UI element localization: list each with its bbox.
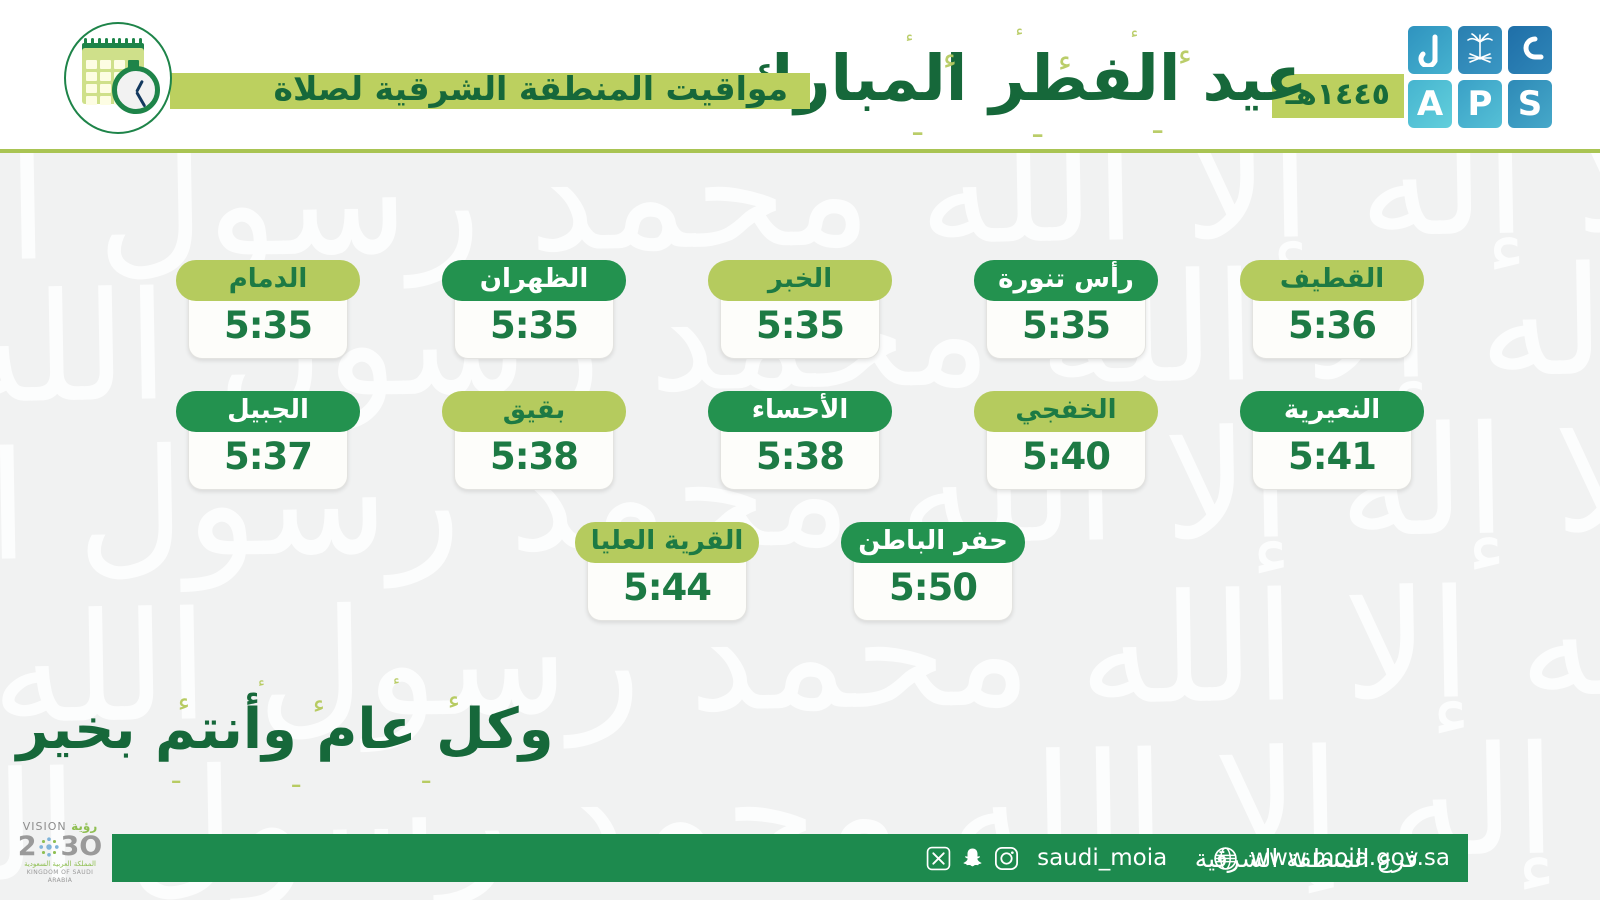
spa-logo-cell-s: S [1508, 80, 1552, 128]
spa-logo-cell-a: A [1408, 80, 1452, 128]
prayer-time: 5:35 [1022, 307, 1110, 344]
city-name-label: القطيف [1240, 260, 1424, 301]
city-name-label: القرية العليا [575, 522, 759, 563]
city-time-box: 5:44 [587, 555, 747, 621]
city-time-box: 5:36 [1252, 293, 1412, 359]
social-handle[interactable]: saudi_moia [1037, 847, 1167, 870]
x-twitter-icon[interactable] [926, 846, 951, 871]
prayer-row-1: القطيف 5:36 رأس تنورة 5:35 الخبر 5:35 ال… [0, 260, 1600, 359]
city-time-box: 5:35 [454, 293, 614, 359]
prayer-time: 5:36 [1288, 307, 1376, 344]
city-name-label: الجبيل [176, 391, 360, 432]
page-footer: VISION رؤية 2 3O المملكة العربية السعودي… [0, 800, 1600, 900]
vision-2030-logo: VISION رؤية 2 3O المملكة العربية السعودي… [14, 820, 106, 882]
spa-letter-waw-glyph [1515, 33, 1545, 67]
spa-letter-alef-glyph [1417, 33, 1443, 67]
spa-logo-cell-alef [1408, 26, 1452, 74]
city-name-label: بقيق [442, 391, 626, 432]
spa-logo-cell-p: P [1458, 80, 1502, 128]
prayer-time: 5:35 [224, 307, 312, 344]
city-name-label: الخفجي [974, 391, 1158, 432]
city-card-dhahran[interactable]: الظهران 5:35 [442, 260, 626, 359]
prayer-row-3: حفر الباطن 5:50 القرية العليا 5:44 [0, 522, 1600, 621]
city-name-label: الظهران [442, 260, 626, 301]
spa-logo: S P A [1412, 26, 1552, 134]
calendar-clock-icon [64, 22, 172, 134]
prayer-time: 5:37 [224, 438, 312, 475]
city-name-label: النعيرية [1240, 391, 1424, 432]
greeting-text: وكل عام وأنتم بخير [16, 702, 553, 758]
branch-label: فرع المنطقة الشرقية [1195, 834, 1418, 882]
clock-minute-hand [135, 91, 146, 107]
city-time-box: 5:35 [986, 293, 1146, 359]
city-card-hafar-al-batin[interactable]: حفر الباطن 5:50 [841, 522, 1025, 621]
social-icons [926, 846, 1019, 871]
city-card-ahsa[interactable]: الأحساء 5:38 [708, 391, 892, 490]
vision-year-suffix: 3O [61, 833, 103, 860]
city-time-box: 5:35 [188, 293, 348, 359]
vision-year-prefix: 2 [18, 833, 37, 860]
instagram-icon[interactable] [994, 846, 1019, 871]
city-time-box: 5:37 [188, 424, 348, 490]
eid-calligraphy-text: عيد الفطر المبارك [736, 47, 1307, 110]
prayer-time: 5:41 [1288, 438, 1376, 475]
city-card-ras-tanura[interactable]: رأس تنورة 5:35 [974, 260, 1158, 359]
prayer-time: 5:35 [490, 307, 578, 344]
city-time-box: 5:40 [986, 424, 1146, 490]
prayer-row-2: النعيرية 5:41 الخفجي 5:40 الأحساء 5:38 ب… [0, 391, 1600, 490]
prayer-time: 5:38 [756, 438, 844, 475]
vision-year: 2 3O [14, 833, 106, 860]
city-card-nuairiyah[interactable]: النعيرية 5:41 [1240, 391, 1424, 490]
prayer-time: 5:40 [1022, 438, 1110, 475]
prayer-time: 5:35 [756, 307, 844, 344]
city-card-qaryah-ulya[interactable]: القرية العليا 5:44 [575, 522, 759, 621]
footer-bar: saudi_moia www.moia.gov.sa فرع المنطقة ا… [112, 834, 1468, 882]
city-card-khafji[interactable]: الخفجي 5:40 [974, 391, 1158, 490]
eid-calligraphy: ء ٔ ء ٔ ء ٔ ـ ـ ـ عيد الفطر المبارك [822, 22, 1222, 134]
city-card-jubail[interactable]: الجبيل 5:37 [176, 391, 360, 490]
city-name-label: رأس تنورة [974, 260, 1158, 301]
city-time-box: 5:35 [720, 293, 880, 359]
prayer-time: 5:44 [623, 569, 711, 606]
vision-ornament-icon [38, 836, 60, 858]
clock-icon [112, 66, 160, 114]
palm-swords-icon [1465, 32, 1495, 68]
city-card-abqaiq[interactable]: بقيق 5:38 [442, 391, 626, 490]
city-name-label: الأحساء [708, 391, 892, 432]
city-card-khobar[interactable]: الخبر 5:35 [708, 260, 892, 359]
snapchat-icon[interactable] [960, 846, 985, 871]
prayer-time: 5:38 [490, 438, 578, 475]
city-time-box: 5:41 [1252, 424, 1412, 490]
spa-logo-cell-waw [1508, 26, 1552, 74]
city-name-label: حفر الباطن [841, 522, 1025, 563]
vision-kingdom-ar: المملكة العربية السعودية [14, 860, 106, 869]
city-name-label: الدمام [176, 260, 360, 301]
page-title: مواقيت المنطقة الشرقية لصلاة [168, 66, 788, 112]
city-name-label: الخبر [708, 260, 892, 301]
page-header: S P A ١٤٤٥هـ ء ٔ ء ٔ ء ٔ ـ ـ ـ عيد الفطر… [0, 0, 1600, 152]
prayer-time: 5:50 [889, 569, 977, 606]
spa-logo-cell-palm [1458, 26, 1502, 74]
city-card-dammam[interactable]: الدمام 5:35 [176, 260, 360, 359]
city-time-box: 5:38 [720, 424, 880, 490]
header-divider [0, 149, 1600, 153]
vision-kingdom-en: KINGDOM OF SAUDI ARABIA [14, 869, 106, 885]
city-card-qatif[interactable]: القطيف 5:36 [1240, 260, 1424, 359]
city-time-box: 5:50 [853, 555, 1013, 621]
poster-root: لا إله إلا الله محمد رسول الله لا إله إل… [0, 0, 1600, 900]
city-time-box: 5:38 [454, 424, 614, 490]
greeting-calligraphy: ء ٔ ء ٔ ء ـ ـ ـ وكل عام وأنتم بخير [70, 672, 500, 788]
